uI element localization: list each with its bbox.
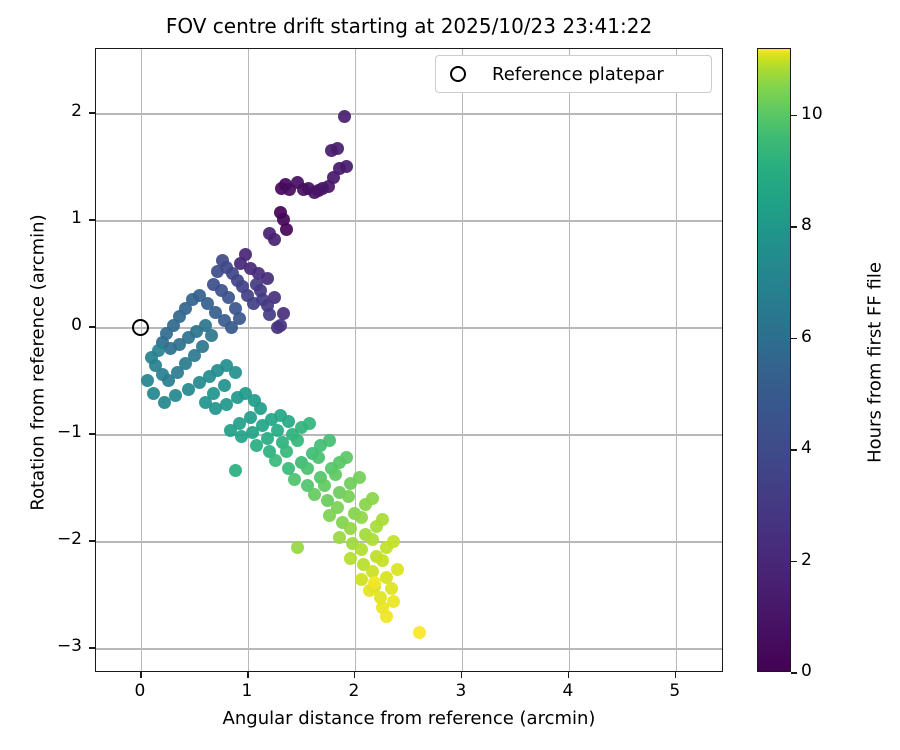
plot-area (95, 48, 723, 672)
scatter-point (368, 576, 381, 589)
y-tick-mark (89, 219, 95, 221)
scatter-point (413, 626, 426, 639)
scatter-point (366, 492, 379, 505)
scatter-point (268, 233, 281, 246)
x-tick-label: 4 (538, 681, 598, 701)
colorbar (757, 48, 791, 672)
scatter-point (323, 509, 336, 522)
scatter-point (250, 278, 263, 291)
y-axis-label: Rotation from reference (arcmin) (28, 51, 49, 675)
scatter-point (211, 265, 224, 278)
scatter-point (323, 434, 336, 447)
scatter-point (344, 552, 357, 565)
scatter-point (338, 110, 351, 123)
scatter-point (331, 142, 344, 155)
y-tick-mark (89, 326, 95, 328)
legend-open-circle-icon (450, 66, 466, 82)
colorbar-tick-mark (791, 338, 797, 340)
scatter-point (141, 374, 154, 387)
scatter-point (380, 610, 393, 623)
y-tick-mark (89, 540, 95, 542)
x-tick-label: 5 (645, 681, 705, 701)
scatter-point (277, 213, 290, 226)
scatter-point (385, 582, 398, 595)
figure-canvas: FOV centre drift starting at 2025/10/23 … (0, 0, 900, 750)
legend: Reference platepar (435, 55, 712, 93)
scatter-point (301, 462, 314, 475)
scatter-point (254, 402, 267, 415)
colorbar-tick-label: 2 (801, 550, 812, 570)
colorbar-tick-label: 8 (801, 215, 812, 235)
page-title: FOV centre drift starting at 2025/10/23 … (0, 14, 818, 38)
scatter-point (376, 513, 389, 526)
scatter-point (387, 595, 400, 608)
colorbar-tick-mark (791, 672, 797, 674)
scatter-point (303, 417, 316, 430)
scatter-point (218, 379, 231, 392)
scatter-point (376, 554, 389, 567)
scatter-point (282, 415, 295, 428)
colorbar-tick-mark (791, 226, 797, 228)
scatter-point (308, 488, 321, 501)
scatter-point (269, 454, 282, 467)
colorbar-tick-mark (791, 115, 797, 117)
scatter-points-layer (96, 49, 722, 671)
x-tick-label: 1 (217, 681, 277, 701)
colorbar-label: Hours from first FF file (865, 51, 886, 675)
scatter-point (288, 473, 301, 486)
scatter-point (366, 533, 379, 546)
scatter-point (169, 389, 182, 402)
scatter-point (329, 468, 342, 481)
x-tick-mark (461, 672, 463, 678)
x-tick-mark (568, 672, 570, 678)
x-tick-label: 2 (324, 681, 384, 701)
y-tick-mark (89, 112, 95, 114)
y-tick-mark (89, 647, 95, 649)
legend-item-label: Reference platepar (492, 64, 664, 85)
scatter-point (291, 434, 304, 447)
x-tick-mark (247, 672, 249, 678)
colorbar-tick-label: 0 (801, 661, 812, 681)
scatter-point (355, 511, 368, 524)
scatter-point (291, 541, 304, 554)
scatter-point (277, 307, 290, 320)
colorbar-tick-mark (791, 561, 797, 563)
colorbar-tick-label: 10 (801, 104, 823, 124)
scatter-point (340, 160, 353, 173)
x-tick-mark (675, 672, 677, 678)
x-tick-label: 0 (110, 681, 170, 701)
colorbar-tick-label: 4 (801, 438, 812, 458)
scatter-point (340, 451, 353, 464)
colorbar-tick-label: 6 (801, 327, 812, 347)
scatter-point (250, 439, 263, 452)
scatter-point (342, 490, 355, 503)
x-tick-mark (354, 672, 356, 678)
scatter-point (263, 308, 276, 321)
colorbar-tick-mark (791, 449, 797, 451)
scatter-point (387, 535, 400, 548)
scatter-point (274, 319, 287, 332)
scatter-point (280, 445, 293, 458)
scatter-point (344, 522, 357, 535)
y-tick-mark (89, 433, 95, 435)
scatter-point (312, 451, 325, 464)
scatter-point (333, 531, 346, 544)
scatter-point (229, 464, 242, 477)
x-tick-label: 3 (431, 681, 491, 701)
scatter-point (391, 563, 404, 576)
scatter-point (229, 366, 242, 379)
scatter-point (152, 344, 165, 357)
x-tick-mark (140, 672, 142, 678)
scatter-point (353, 471, 366, 484)
scatter-point (318, 479, 331, 492)
x-axis-label: Angular distance from reference (arcmin) (95, 708, 723, 729)
scatter-point (355, 543, 368, 556)
scatter-point (205, 329, 218, 342)
